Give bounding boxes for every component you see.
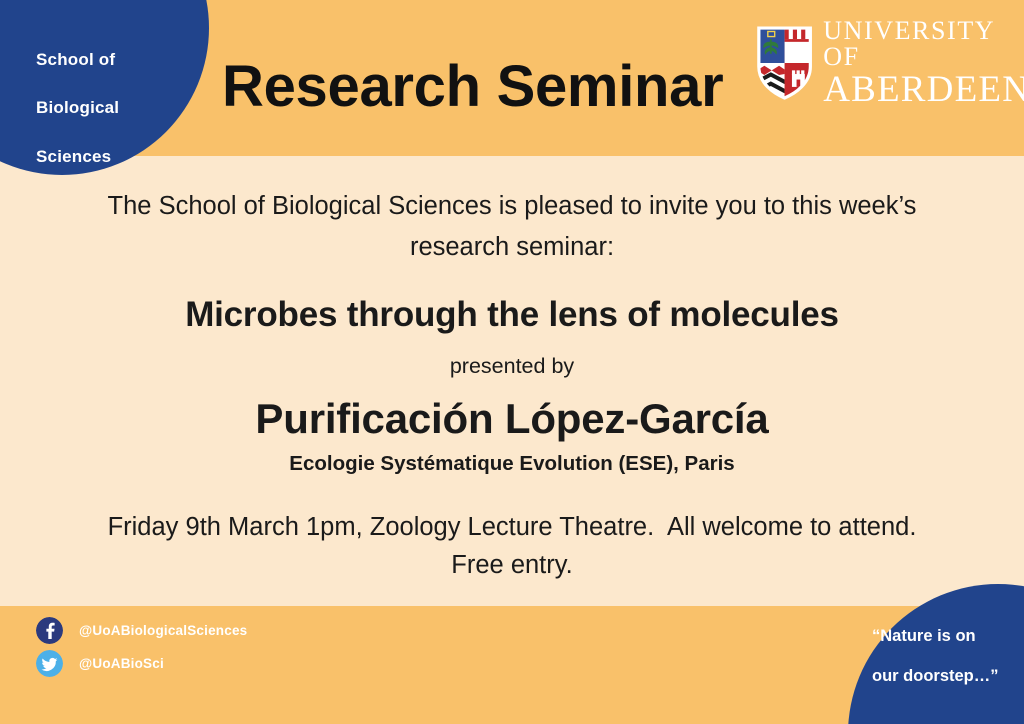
school-badge-line-1: School of xyxy=(36,36,166,84)
tagline-line-2: our doorstep…” xyxy=(872,656,1012,696)
tagline-label: “Nature is on our doorstep…” xyxy=(872,616,1012,697)
speaker-affiliation: Ecologie Systématique Evolution (ESE), P… xyxy=(0,452,1024,476)
school-badge-line-2: Biological xyxy=(36,84,166,132)
wordmark-line-1: UNIVERSITY OF xyxy=(823,18,1024,70)
facebook-handle[interactable]: @UoABiologicalSciences xyxy=(79,623,247,638)
event-details: Friday 9th March 1pm, Zoology Lecture Th… xyxy=(0,507,1024,548)
facebook-icon[interactable] xyxy=(36,617,63,644)
wordmark-line-2: ABERDEEN xyxy=(823,71,1024,108)
twitter-icon[interactable] xyxy=(36,650,63,677)
event-entry-note: Free entry. xyxy=(0,551,1024,580)
university-logo: UNIVERSITY OF ABERDEEN xyxy=(757,23,1024,103)
intro-text: The School of Biological Sciences is ple… xyxy=(62,186,962,269)
page-title: Research Seminar xyxy=(222,58,723,116)
university-wordmark: UNIVERSITY OF ABERDEEN xyxy=(823,18,1024,108)
poster-body: The School of Biological Sciences is ple… xyxy=(0,186,1024,580)
seminar-poster: School of Biological Sciences Research S… xyxy=(0,0,1024,724)
speaker-name: Purificación López-García xyxy=(0,395,1024,443)
school-badge-line-3: Sciences xyxy=(36,133,166,181)
presented-by-label: presented by xyxy=(0,354,1024,379)
school-badge-label: School of Biological Sciences xyxy=(36,36,166,181)
tagline-line-1: “Nature is on xyxy=(872,616,1012,656)
twitter-handle[interactable]: @UoABioSci xyxy=(79,656,164,671)
talk-title: Microbes through the lens of molecules xyxy=(0,295,1024,335)
social-row-facebook[interactable]: @UoABiologicalSciences xyxy=(36,614,247,647)
social-row-twitter[interactable]: @UoABioSci xyxy=(36,647,247,680)
social-links: @UoABiologicalSciences @UoABioSci xyxy=(36,614,247,680)
aberdeen-coat-of-arms-icon xyxy=(757,25,812,101)
